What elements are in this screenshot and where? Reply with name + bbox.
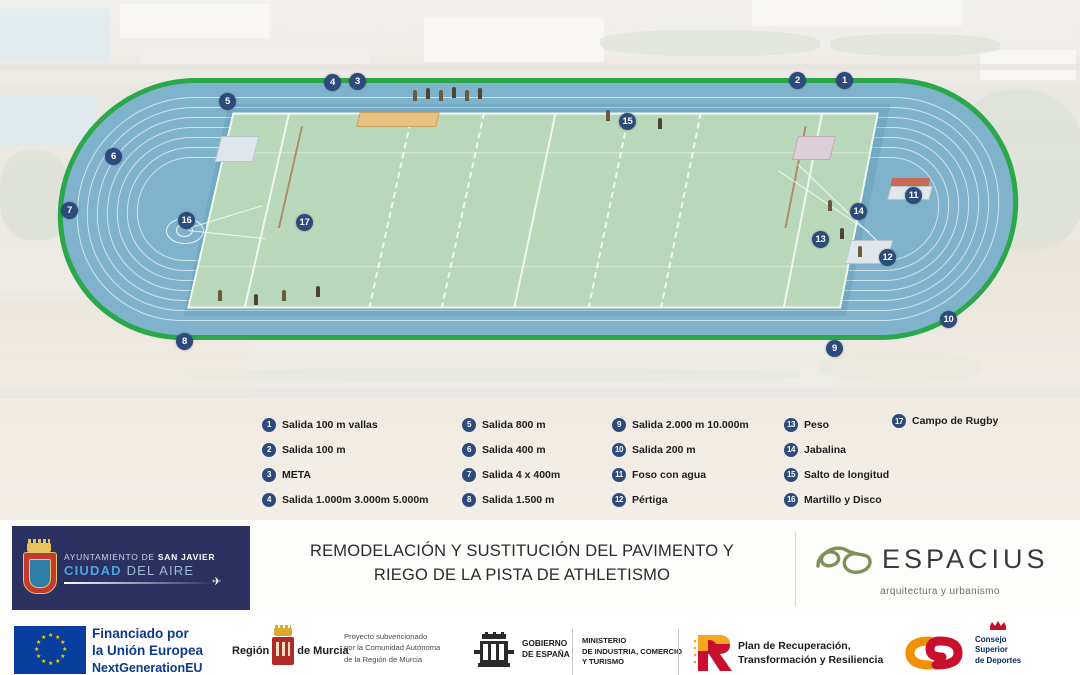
legend-label-3: META (282, 469, 311, 481)
eu-flag-icon: ★★★★★★★★★★★★ (14, 626, 86, 674)
plan-marker-7: 7 (61, 202, 78, 219)
espacius-name: ESPACIUS (882, 544, 1049, 575)
san-javier-municipal-logo: AYUNTAMIENTO DE SAN JAVIER CIUDAD DEL AI… (12, 526, 250, 610)
csd-line-1: Consejo (975, 635, 1021, 645)
csd-line-3: de Deportes (975, 656, 1021, 666)
plan-marker-13: 13 (812, 231, 829, 248)
region-suffix: de Murcia (297, 645, 348, 657)
legend-label-6: Salida 400 m (482, 444, 546, 456)
prtr-line-2: Transformación y Resiliencia (738, 653, 883, 667)
plan-marker-4: 4 (324, 74, 341, 91)
gobierno-de-espana-text: GOBIERNO DE ESPAÑA (522, 638, 570, 660)
legend-item-3: 3META (262, 468, 462, 482)
eu-star-icon: ★ (34, 648, 38, 652)
csd-crown-icon (988, 621, 1008, 631)
legend-label-16: Martillo y Disco (804, 494, 882, 506)
csd-line-2: Superior (975, 645, 1021, 655)
legend-label-8: Salida 1.500 m (482, 494, 554, 506)
legend-item-15: 15Salto de longitud (784, 468, 964, 482)
throwing-mat (215, 136, 259, 162)
subsidy-line-1: Proyecto subvencionado (344, 631, 440, 642)
title-bar: AYUNTAMIENTO DE SAN JAVIER CIUDAD DEL AI… (0, 520, 1080, 617)
ministerio-line-3: Y TURISMO (582, 657, 682, 668)
project-title-line-1: REMODELACIÓN Y SUSTITUCIÓN DEL PAVIMENTO… (262, 540, 782, 564)
legend-label-4: Salida 1.000m 3.000m 5.000m (282, 494, 429, 506)
eu-star-icon: ★ (36, 641, 40, 645)
plan-marker-9: 9 (826, 340, 843, 357)
legend-label-1: Salida 100 m vallas (282, 419, 378, 431)
legend-badge-6: 6 (462, 443, 476, 457)
subsidy-line-3: de la Región de Murcia (344, 654, 440, 665)
legend-badge-5: 5 (462, 418, 476, 432)
legend-badge-3: 3 (262, 468, 276, 482)
long-jump-pit (356, 112, 440, 127)
legend-badge-10: 10 (612, 443, 626, 457)
eu-star-icon: ★ (60, 655, 64, 659)
plan-marker-16: 16 (178, 212, 195, 229)
city-slogan-line: CIUDAD DEL AIRE (64, 563, 215, 578)
legend-label-2: Salida 100 m (282, 444, 346, 456)
funding-logos-bar: ★★★★★★★★★★★★ Financiado por la Unión Eur… (0, 617, 1080, 675)
murcia-shield-icon (272, 637, 294, 665)
page-title: REMODELACIÓN Y SUSTITUCIÓN DEL PAVIMENTO… (262, 540, 782, 588)
legend-badge-14: 14 (784, 443, 798, 457)
legend-item-5: 5Salida 800 m (462, 418, 612, 432)
poster-root: 1234567891011121314151617 1Salida 100 m … (0, 0, 1080, 675)
legend-badge-4: 4 (262, 493, 276, 507)
ministerio-line-2: DE INDUSTRIA, COMERCIO (582, 647, 682, 658)
legend-badge-8: 8 (462, 493, 476, 507)
eu-star-icon: ★ (55, 636, 59, 640)
eu-star-icon: ★ (60, 641, 64, 645)
legend-label-12: Pértiga (632, 494, 668, 506)
plan-marker-12: 12 (879, 249, 896, 266)
legend-item-6: 6Salida 400 m (462, 443, 612, 457)
legend-badge-9: 9 (612, 418, 626, 432)
espacius-mark-icon (812, 536, 878, 582)
airplane-icon: ✈ (212, 577, 221, 588)
legend-item-8: 8Salida 1.500 m (462, 493, 612, 507)
plan-marker-1: 1 (836, 72, 853, 89)
plan-marker-3: 3 (349, 73, 366, 90)
funding-divider-1 (572, 629, 573, 675)
csd-logo-icon (900, 633, 976, 673)
legend-badge-12: 12 (612, 493, 626, 507)
subsidy-text: Proyecto subvencionado por la Comunidad … (344, 631, 440, 665)
legend-badge-2: 2 (262, 443, 276, 457)
subsidy-line-2: por la Comunidad Autónoma (344, 642, 440, 653)
plan-marker-5: 5 (219, 93, 236, 110)
legend-item-1: 1Salida 100 m vallas (262, 418, 462, 432)
legend-item-2: 2Salida 100 m (262, 443, 462, 457)
legend-item-14: 14Jabalina (784, 443, 964, 457)
region-de-murcia-logo: Región de Murcia (232, 637, 349, 665)
eu-star-icon: ★ (62, 648, 66, 652)
prtr-text: Plan de Recuperación, Transformación y R… (738, 639, 883, 667)
legend-item-10: 10Salida 200 m (612, 443, 784, 457)
legend-badge-7: 7 (462, 468, 476, 482)
plan-marker-14: 14 (850, 203, 867, 220)
eu-line-2: la Unión Europea (92, 642, 203, 659)
plan-marker-15: 15 (619, 113, 636, 130)
gobierno-line-1: GOBIERNO (522, 638, 570, 649)
csd-text: Consejo Superior de Deportes (975, 635, 1021, 666)
espacius-tagline: arquitectura y urbanismo (812, 586, 1068, 597)
legend-badge-13: 13 (784, 418, 798, 432)
high-jump-mat (792, 136, 836, 160)
legend-item-9: 9Salida 2.000 m 10.000m (612, 418, 784, 432)
plan-marker-17: 17 (296, 214, 313, 231)
eu-funding-text: Financiado por la Unión Europea NextGene… (92, 625, 203, 675)
legend-item-16: 16Martillo y Disco (784, 493, 964, 507)
legend-label-13: Peso (804, 419, 829, 431)
legend-label-14: Jabalina (804, 444, 846, 456)
municipality-line: AYUNTAMIENTO DE SAN JAVIER (64, 552, 215, 562)
plan-marker-2: 2 (789, 72, 806, 89)
eu-star-icon: ★ (55, 660, 59, 664)
eu-star-icon: ★ (41, 636, 45, 640)
title-divider (795, 532, 796, 606)
legend-item-7: 7Salida 4 x 400m (462, 468, 612, 482)
legend-item-12: 12Pértiga (612, 493, 784, 507)
eu-line-3: NextGenerationEU (92, 660, 203, 675)
eu-line-1: Financiado por (92, 625, 203, 642)
project-title-line-2: RIEGO DE LA PISTA DE ATHLETISMO (262, 564, 782, 588)
eu-star-icon: ★ (48, 662, 52, 666)
legend-label-5: Salida 800 m (482, 419, 546, 431)
gobierno-line-2: DE ESPAÑA (522, 649, 570, 660)
athletics-track-plan (58, 78, 1018, 340)
eu-star-icon: ★ (36, 655, 40, 659)
rugby-field (187, 113, 879, 309)
legend-label-15: Salto de longitud (804, 469, 889, 481)
plan-marker-11: 11 (905, 187, 922, 204)
plan-marker-8: 8 (176, 333, 193, 350)
legend-label-11: Foso con agua (632, 469, 706, 481)
espacius-logo: ESPACIUS arquitectura y urbanismo (812, 536, 1068, 606)
legend-item-4: 4Salida 1.000m 3.000m 5.000m (262, 493, 462, 507)
ministerio-text: MINISTERIO DE INDUSTRIA, COMERCIO Y TURI… (582, 636, 682, 668)
legend-badge-1: 1 (262, 418, 276, 432)
eu-star-icon: ★ (48, 634, 52, 638)
ministerio-line-1: MINISTERIO (582, 636, 682, 647)
region-prefix: Región (232, 645, 269, 657)
legend-label-17: Campo de Rugby (912, 415, 998, 427)
legend-label-9: Salida 2.000 m 10.000m (632, 419, 749, 431)
legend-badge-15: 15 (784, 468, 798, 482)
legend-item-11: 11Foso con agua (612, 468, 784, 482)
legend-badge-17: 17 (892, 414, 906, 428)
eu-star-icon: ★ (41, 660, 45, 664)
legend-label-10: Salida 200 m (632, 444, 696, 456)
legend-badge-11: 11 (612, 468, 626, 482)
coat-of-arms-icon (20, 543, 58, 593)
legend-badge-16: 16 (784, 493, 798, 507)
prtr-logo-icon (692, 631, 736, 673)
legend-label-7: Salida 4 x 400m (482, 469, 560, 481)
plan-marker-10: 10 (940, 311, 957, 328)
plan-marker-6: 6 (105, 148, 122, 165)
legend-item-17: 17Campo de Rugby (892, 414, 998, 428)
funding-divider-2 (678, 629, 679, 675)
legend-grid: 1Salida 100 m vallas5Salida 800 m9Salida… (262, 412, 1062, 516)
logo-underline: ✈ (64, 582, 215, 584)
prtr-line-1: Plan de Recuperación, (738, 639, 883, 653)
spain-coat-of-arms-icon (472, 632, 516, 670)
